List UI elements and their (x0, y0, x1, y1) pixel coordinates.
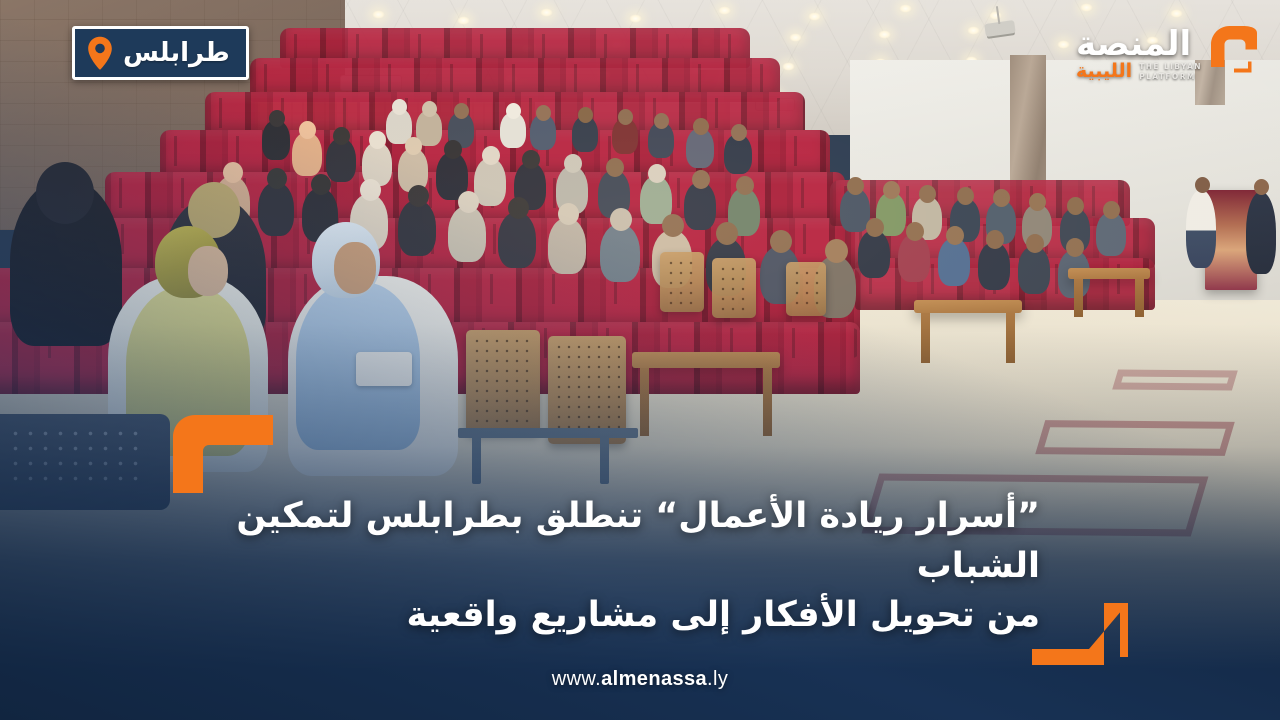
logo-english-line2: PLATFORM (1139, 72, 1202, 81)
logo-text-block: المنصة THE LIBYAN PLATFORM الليبية (1076, 20, 1202, 81)
url-name: almenassa (601, 668, 707, 690)
logo-english: THE LIBYAN PLATFORM (1139, 62, 1202, 81)
website-url[interactable]: www.almenassa.ly (0, 668, 1280, 691)
url-suffix: .ly (707, 668, 728, 690)
brand-logo[interactable]: المنصة THE LIBYAN PLATFORM الليبية (1076, 20, 1262, 82)
location-badge-label: طرابلس (123, 40, 230, 66)
orange-angle-decoration (1032, 603, 1128, 665)
url-prefix: www. (552, 668, 601, 690)
orange-bracket-decoration (173, 415, 273, 493)
logo-english-line1: THE LIBYAN (1139, 62, 1202, 71)
location-badge[interactable]: طرابلس (72, 26, 249, 80)
news-card: طرابلس المنصة THE LIBYAN PLATFORM الليبي… (0, 0, 1280, 720)
headline: ”أسرار ريادة الأعمال“ تنطلق بطرابلس لتمك… (220, 492, 1040, 641)
map-pin-icon (87, 36, 113, 70)
orange-bracket-logo-mark (1206, 20, 1262, 82)
logo-arabic-sub: الليبية (1076, 62, 1132, 81)
headline-line-2: من تحويل الأفكار إلى مشاريع واقعية (220, 591, 1040, 641)
logo-arabic-main: المنصة (1076, 28, 1191, 60)
headline-line-1: ”أسرار ريادة الأعمال“ تنطلق بطرابلس لتمك… (236, 496, 1040, 586)
